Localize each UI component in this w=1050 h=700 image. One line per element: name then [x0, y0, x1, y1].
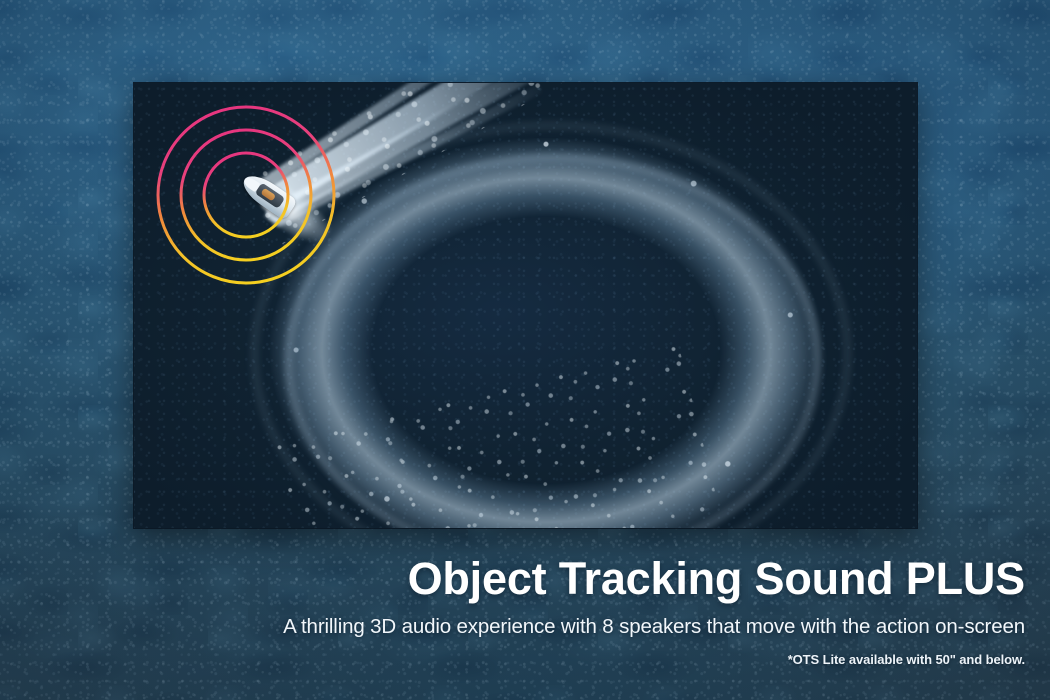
page-subtitle: A thrilling 3D audio experience with 8 s…: [283, 615, 1025, 639]
page-title: Object Tracking Sound PLUS: [408, 556, 1025, 601]
tv-screen-panel: [134, 83, 917, 528]
promo-banner: Object Tracking Sound PLUS A thrilling 3…: [0, 0, 1050, 700]
footnote-disclaimer: *OTS Lite available with 50" and below.: [788, 652, 1025, 668]
